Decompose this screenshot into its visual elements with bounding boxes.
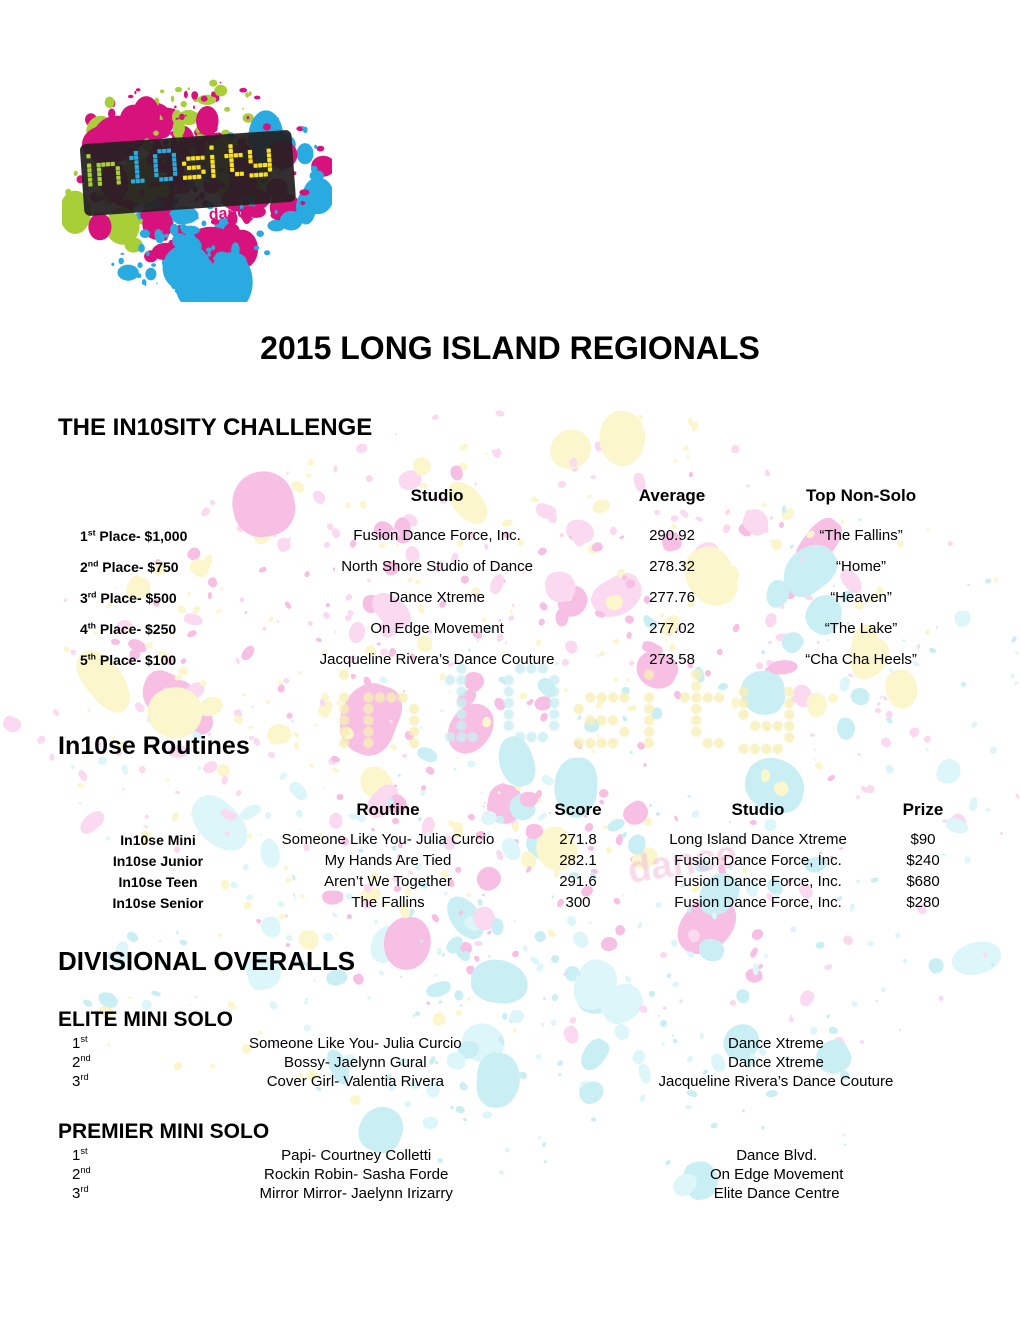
in10se-routines-table: Routine Score Studio Prize In10se Mini S… xyxy=(58,800,968,913)
challenge-place: 2nd Place- $750 xyxy=(58,551,284,582)
division-entry: Mirror Mirror- Jaelynn Irizarry xyxy=(127,1184,585,1203)
table-row: 1st Someone Like You- Julia Curcio Dance… xyxy=(58,1034,968,1053)
challenge-studio: Jacqueline Rivera’s Dance Couture xyxy=(284,644,590,675)
division-rank: 3rd xyxy=(58,1072,127,1091)
division-results-table: 1st Someone Like You- Julia Curcio Dance… xyxy=(58,1034,968,1091)
challenge-col-place xyxy=(58,486,284,520)
division-title: PREMIER MINI SOLO xyxy=(58,1120,968,1144)
place-number: 4 xyxy=(80,621,88,637)
place-ordinal: th xyxy=(88,651,96,661)
routines-header-row: Routine Score Studio Prize xyxy=(58,800,968,829)
division-studio: Dance Blvd. xyxy=(585,1146,968,1165)
routine-division: In10se Teen xyxy=(58,871,258,892)
routine-division: In10se Senior xyxy=(58,892,258,913)
place-label: Place- $500 xyxy=(96,590,176,606)
routine-prize: $680 xyxy=(878,871,968,892)
section-heading-challenge: THE IN10SITY CHALLENGE xyxy=(58,414,372,442)
division-rank: 1st xyxy=(58,1146,127,1165)
challenge-col-top-non-solo: Top Non-Solo xyxy=(754,486,968,520)
table-row: 4th Place- $250 On Edge Movement 277.02 … xyxy=(58,613,968,644)
challenge-top-non-solo: “Heaven” xyxy=(754,582,968,613)
routines-col-studio: Studio xyxy=(638,800,878,829)
challenge-table: Studio Average Top Non-Solo 1st Place- $… xyxy=(58,486,968,675)
rank-ordinal: nd xyxy=(80,1053,90,1063)
routine-division: In10se Junior xyxy=(58,850,258,871)
challenge-average: 278.32 xyxy=(590,551,754,582)
table-row: 1st Papi- Courtney Colletti Dance Blvd. xyxy=(58,1146,968,1165)
place-ordinal: th xyxy=(88,620,96,630)
division-results-table: 1st Papi- Courtney Colletti Dance Blvd. … xyxy=(58,1146,968,1203)
challenge-col-average: Average xyxy=(590,486,754,520)
division-studio: On Edge Movement xyxy=(585,1165,968,1184)
place-label: Place- $100 xyxy=(96,652,176,668)
table-row: 5th Place- $100 Jacqueline Rivera’s Danc… xyxy=(58,644,968,675)
table-row: In10se Senior The Fallins 300 Fusion Dan… xyxy=(58,892,968,913)
division-studio: Elite Dance Centre xyxy=(585,1184,968,1203)
challenge-top-non-solo: “Home” xyxy=(754,551,968,582)
place-number: 3 xyxy=(80,590,88,606)
svg-text:dance: dance xyxy=(208,203,255,223)
table-row: In10se Junior My Hands Are Tied 282.1 Fu… xyxy=(58,850,968,871)
division-studio: Dance Xtreme xyxy=(584,1034,968,1053)
routine-studio: Fusion Dance Force, Inc. xyxy=(638,892,878,913)
challenge-top-non-solo: “The Fallins” xyxy=(754,520,968,551)
rank-ordinal: rd xyxy=(80,1072,88,1082)
division-entry: Cover Girl- Valentia Rivera xyxy=(127,1072,584,1091)
place-number: 2 xyxy=(80,559,88,575)
section-heading-routines: In10se Routines xyxy=(58,732,250,761)
division-entry: Papi- Courtney Colletti xyxy=(127,1146,585,1165)
table-row: In10se Teen Aren’t We Together 291.6 Fus… xyxy=(58,871,968,892)
table-row: 1st Place- $1,000 Fusion Dance Force, In… xyxy=(58,520,968,551)
table-row: 3rd Mirror Mirror- Jaelynn Irizarry Elit… xyxy=(58,1184,968,1203)
challenge-header-row: Studio Average Top Non-Solo xyxy=(58,486,968,520)
challenge-place: 3rd Place- $500 xyxy=(58,582,284,613)
challenge-average: 277.76 xyxy=(590,582,754,613)
routine-name: Someone Like You- Julia Curcio xyxy=(258,829,518,850)
in10sity-dance-logo: dance xyxy=(62,62,332,302)
routine-studio: Long Island Dance Xtreme xyxy=(638,829,878,850)
routine-score: 282.1 xyxy=(518,850,638,871)
challenge-studio: Fusion Dance Force, Inc. xyxy=(284,520,590,551)
division-rank: 3rd xyxy=(58,1184,127,1203)
routine-score: 271.8 xyxy=(518,829,638,850)
division-entry: Bossy- Jaelynn Gural xyxy=(127,1053,584,1072)
division-rank: 1st xyxy=(58,1034,127,1053)
division-block-premier-mini-solo: PREMIER MINI SOLO 1st Papi- Courtney Col… xyxy=(58,1120,968,1203)
rank-ordinal: st xyxy=(80,1034,87,1044)
challenge-place: 1st Place- $1,000 xyxy=(58,520,284,551)
table-row: 3rd Cover Girl- Valentia Rivera Jacqueli… xyxy=(58,1072,968,1091)
routine-prize: $240 xyxy=(878,850,968,871)
challenge-average: 277.02 xyxy=(590,613,754,644)
challenge-top-non-solo: “The Lake” xyxy=(754,613,968,644)
challenge-col-studio: Studio xyxy=(284,486,590,520)
rank-ordinal: nd xyxy=(80,1165,90,1175)
division-block-elite-mini-solo: ELITE MINI SOLO 1st Someone Like You- Ju… xyxy=(58,1008,968,1091)
results-page: dance dance 2015 LONG ISLAND REGIONALS T… xyxy=(0,0,1020,1320)
challenge-studio: On Edge Movement xyxy=(284,613,590,644)
routine-name: My Hands Are Tied xyxy=(258,850,518,871)
routine-score: 291.6 xyxy=(518,871,638,892)
place-label: Place- $1,000 xyxy=(96,528,188,544)
challenge-place: 5th Place- $100 xyxy=(58,644,284,675)
routine-studio: Fusion Dance Force, Inc. xyxy=(638,871,878,892)
page-title: 2015 LONG ISLAND REGIONALS xyxy=(0,330,1020,367)
routine-division: In10se Mini xyxy=(58,829,258,850)
challenge-top-non-solo: “Cha Cha Heels” xyxy=(754,644,968,675)
division-title: ELITE MINI SOLO xyxy=(58,1008,968,1032)
place-ordinal: st xyxy=(88,527,96,537)
division-studio: Jacqueline Rivera’s Dance Couture xyxy=(584,1072,968,1091)
challenge-studio: Dance Xtreme xyxy=(284,582,590,613)
table-row: 2nd Place- $750 North Shore Studio of Da… xyxy=(58,551,968,582)
routines-col-routine: Routine xyxy=(258,800,518,829)
routine-name: The Fallins xyxy=(258,892,518,913)
place-label: Place- $250 xyxy=(96,621,176,637)
table-row: 3rd Place- $500 Dance Xtreme 277.76 “Hea… xyxy=(58,582,968,613)
challenge-average: 273.58 xyxy=(590,644,754,675)
division-entry: Someone Like You- Julia Curcio xyxy=(127,1034,584,1053)
division-studio: Dance Xtreme xyxy=(584,1053,968,1072)
challenge-studio: North Shore Studio of Dance xyxy=(284,551,590,582)
routine-name: Aren’t We Together xyxy=(258,871,518,892)
routines-col-score: Score xyxy=(518,800,638,829)
table-row: 2nd Rockin Robin- Sasha Forde On Edge Mo… xyxy=(58,1165,968,1184)
routine-score: 300 xyxy=(518,892,638,913)
place-label: Place- $750 xyxy=(98,559,178,575)
routines-col-division xyxy=(58,800,258,829)
table-row: 2nd Bossy- Jaelynn Gural Dance Xtreme xyxy=(58,1053,968,1072)
routine-prize: $90 xyxy=(878,829,968,850)
section-heading-divisional-overalls: DIVISIONAL OVERALLS xyxy=(58,946,355,977)
rank-ordinal: st xyxy=(80,1146,87,1156)
challenge-average: 290.92 xyxy=(590,520,754,551)
challenge-place: 4th Place- $250 xyxy=(58,613,284,644)
routines-col-prize: Prize xyxy=(878,800,968,829)
division-entry: Rockin Robin- Sasha Forde xyxy=(127,1165,585,1184)
rank-ordinal: rd xyxy=(80,1184,88,1194)
place-number: 5 xyxy=(80,652,88,668)
place-ordinal: nd xyxy=(88,558,99,568)
division-rank: 2nd xyxy=(58,1053,127,1072)
routine-studio: Fusion Dance Force, Inc. xyxy=(638,850,878,871)
table-row: In10se Mini Someone Like You- Julia Curc… xyxy=(58,829,968,850)
place-number: 1 xyxy=(80,528,88,544)
division-rank: 2nd xyxy=(58,1165,127,1184)
routine-prize: $280 xyxy=(878,892,968,913)
